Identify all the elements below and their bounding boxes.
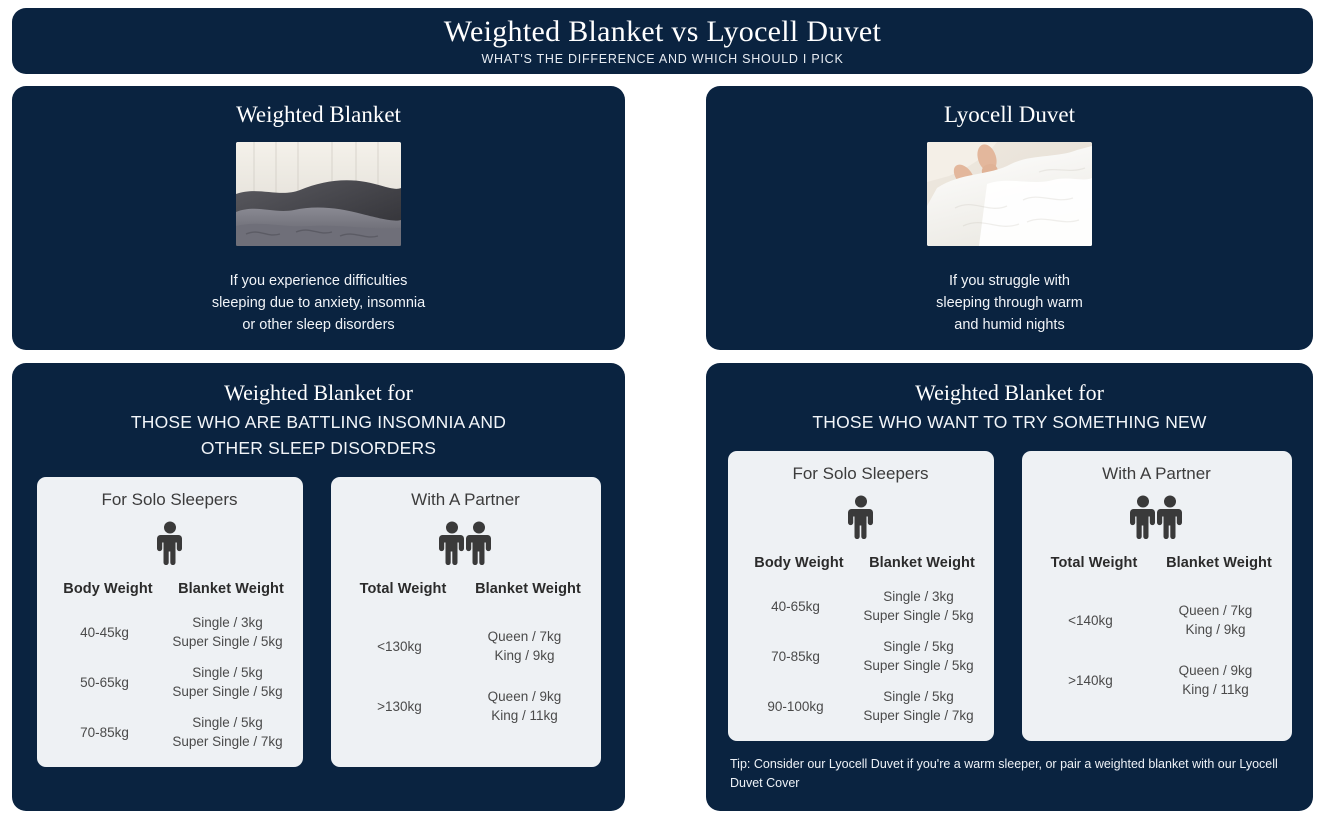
option: Super Single / 5kg bbox=[163, 632, 293, 651]
table-row: 70-85kg Single / 5kg Super Single / 5kg bbox=[738, 637, 984, 675]
cell-options: Single / 5kg Super Single / 7kg bbox=[854, 687, 984, 725]
intro-desc-line: sleeping due to anxiety, insomnia bbox=[212, 292, 425, 314]
column-header: Body Weight bbox=[47, 581, 170, 597]
page-subtitle: WHAT'S THE DIFFERENCE AND WHICH SHOULD I… bbox=[481, 52, 843, 67]
table-solo-sleepers-left: For Solo Sleepers Body Weight Blanket We… bbox=[37, 477, 303, 767]
option: Single / 5kg bbox=[854, 687, 984, 706]
intro-desc-line: If you struggle with bbox=[936, 270, 1083, 292]
table-title: For Solo Sleepers bbox=[101, 489, 237, 511]
single-person-icon bbox=[157, 519, 183, 565]
tables-left: For Solo Sleepers Body Weight Blanket We… bbox=[26, 477, 611, 767]
option: King / 9kg bbox=[1149, 620, 1281, 639]
option: Super Single / 7kg bbox=[163, 732, 293, 751]
table-with-partner-left: With A Partner Total Weight Blanket Weig… bbox=[331, 477, 601, 767]
option: King / 9kg bbox=[458, 646, 590, 665]
table-header-row: Body Weight Blanket Weight bbox=[47, 581, 293, 597]
table-title: With A Partner bbox=[1102, 463, 1211, 485]
cell-weight: <140kg bbox=[1032, 611, 1150, 630]
cell-weight: 40-65kg bbox=[738, 597, 854, 616]
table-header-row: Total Weight Blanket Weight bbox=[1032, 555, 1282, 571]
detail-card-insomnia: Weighted Blanket for THOSE WHO ARE BATTL… bbox=[12, 363, 625, 811]
option: Single / 5kg bbox=[163, 663, 293, 682]
intro-card-weighted-blanket: Weighted Blanket bbox=[12, 86, 625, 350]
option: Queen / 7kg bbox=[1149, 601, 1281, 620]
detail-sub-line: THOSE WHO ARE BATTLING INSOMNIA AND bbox=[131, 409, 506, 435]
intro-title-right: Lyocell Duvet bbox=[944, 100, 1075, 130]
tables-right: For Solo Sleepers Body Weight Blanket We… bbox=[720, 451, 1299, 741]
option: Single / 3kg bbox=[854, 587, 984, 606]
intro-card-lyocell-duvet: Lyocell Duvet bbox=[706, 86, 1313, 350]
cell-options: Single / 5kg Super Single / 5kg bbox=[854, 637, 984, 675]
table-row: 40-45kg Single / 3kg Super Single / 5kg bbox=[47, 613, 293, 651]
table-row: 40-65kg Single / 3kg Super Single / 5kg bbox=[738, 587, 984, 625]
table-row: >140kg Queen / 9kg King / 11kg bbox=[1032, 661, 1282, 699]
cell-weight: >140kg bbox=[1032, 671, 1150, 690]
intro-description-right: If you struggle with sleeping through wa… bbox=[936, 270, 1083, 336]
table-body: <130kg Queen / 7kg King / 9kg >130kg Que… bbox=[341, 601, 591, 725]
header-banner: Weighted Blanket vs Lyocell Duvet WHAT'S… bbox=[12, 8, 1313, 74]
detail-sub-line: OTHER SLEEP DISORDERS bbox=[131, 435, 506, 461]
cell-weight: 40-45kg bbox=[47, 623, 163, 642]
option: Super Single / 5kg bbox=[854, 606, 984, 625]
intro-desc-line: or other sleep disorders bbox=[212, 314, 425, 336]
column-header: Total Weight bbox=[341, 581, 466, 597]
option: King / 11kg bbox=[1149, 680, 1281, 699]
page-title: Weighted Blanket vs Lyocell Duvet bbox=[444, 15, 881, 49]
cell-options: Queen / 9kg King / 11kg bbox=[1149, 661, 1281, 699]
cell-weight: 90-100kg bbox=[738, 697, 854, 716]
cell-options: Single / 3kg Super Single / 5kg bbox=[163, 613, 293, 651]
intro-desc-line: If you experience difficulties bbox=[212, 270, 425, 292]
option: Queen / 9kg bbox=[1149, 661, 1281, 680]
table-body: 40-65kg Single / 3kg Super Single / 5kg … bbox=[738, 575, 984, 725]
cell-options: Queen / 7kg King / 9kg bbox=[458, 627, 590, 665]
table-title: With A Partner bbox=[411, 489, 520, 511]
table-row: 50-65kg Single / 5kg Super Single / 5kg bbox=[47, 663, 293, 701]
intro-title-left: Weighted Blanket bbox=[236, 100, 401, 130]
option: Super Single / 7kg bbox=[854, 706, 984, 725]
infographic-page: Weighted Blanket vs Lyocell Duvet WHAT'S… bbox=[0, 0, 1325, 820]
cell-options: Single / 3kg Super Single / 5kg bbox=[854, 587, 984, 625]
table-body: <140kg Queen / 7kg King / 9kg >140kg Que… bbox=[1032, 575, 1282, 699]
option: Super Single / 5kg bbox=[163, 682, 293, 701]
intro-desc-line: sleeping through warm bbox=[936, 292, 1083, 314]
option: Single / 5kg bbox=[854, 637, 984, 656]
intro-desc-line: and humid nights bbox=[936, 314, 1083, 336]
table-header-row: Body Weight Blanket Weight bbox=[738, 555, 984, 571]
tip-text: Tip: Consider our Lyocell Duvet if you'r… bbox=[730, 755, 1290, 793]
lyocell-duvet-photo bbox=[927, 142, 1092, 246]
table-row: <130kg Queen / 7kg King / 9kg bbox=[341, 627, 591, 665]
cell-weight: 50-65kg bbox=[47, 673, 163, 692]
detail-title-right: Weighted Blanket for bbox=[915, 379, 1104, 407]
column-header: Body Weight bbox=[738, 555, 861, 571]
cell-weight: 70-85kg bbox=[738, 647, 854, 666]
cell-options: Queen / 7kg King / 9kg bbox=[1149, 601, 1281, 639]
detail-card-something-new: Weighted Blanket for THOSE WHO WANT TO T… bbox=[706, 363, 1313, 811]
table-header-row: Total Weight Blanket Weight bbox=[341, 581, 591, 597]
option: Queen / 9kg bbox=[458, 687, 590, 706]
detail-subtitle-left: THOSE WHO ARE BATTLING INSOMNIA AND OTHE… bbox=[131, 409, 506, 461]
detail-title-left: Weighted Blanket for bbox=[224, 379, 413, 407]
weighted-blanket-photo bbox=[236, 142, 401, 246]
single-person-icon bbox=[848, 493, 874, 539]
detail-sub-line: THOSE WHO WANT TO TRY SOMETHING NEW bbox=[812, 409, 1206, 435]
column-header: Blanket Weight bbox=[861, 555, 984, 571]
column-header: Total Weight bbox=[1032, 555, 1157, 571]
table-row: 70-85kg Single / 5kg Super Single / 7kg bbox=[47, 713, 293, 751]
column-header: Blanket Weight bbox=[1157, 555, 1282, 571]
cell-weight: 70-85kg bbox=[47, 723, 163, 742]
cell-options: Single / 5kg Super Single / 7kg bbox=[163, 713, 293, 751]
table-title: For Solo Sleepers bbox=[792, 463, 928, 485]
cell-options: Queen / 9kg King / 11kg bbox=[458, 687, 590, 725]
table-row: 90-100kg Single / 5kg Super Single / 7kg bbox=[738, 687, 984, 725]
cell-weight: <130kg bbox=[341, 637, 459, 656]
option: Single / 3kg bbox=[163, 613, 293, 632]
column-header: Blanket Weight bbox=[466, 581, 591, 597]
table-row: <140kg Queen / 7kg King / 9kg bbox=[1032, 601, 1282, 639]
table-solo-sleepers-right: For Solo Sleepers Body Weight Blanket We… bbox=[728, 451, 994, 741]
option: Queen / 7kg bbox=[458, 627, 590, 646]
two-people-icon bbox=[1130, 493, 1184, 539]
table-row: >130kg Queen / 9kg King / 11kg bbox=[341, 687, 591, 725]
intro-description-left: If you experience difficulties sleeping … bbox=[212, 270, 425, 336]
cell-weight: >130kg bbox=[341, 697, 459, 716]
table-with-partner-right: With A Partner Total Weight Blanket Weig… bbox=[1022, 451, 1292, 741]
option: Super Single / 5kg bbox=[854, 656, 984, 675]
table-body: 40-45kg Single / 3kg Super Single / 5kg … bbox=[47, 601, 293, 751]
two-people-icon bbox=[439, 519, 493, 565]
column-header: Blanket Weight bbox=[170, 581, 293, 597]
cell-options: Single / 5kg Super Single / 5kg bbox=[163, 663, 293, 701]
option: King / 11kg bbox=[458, 706, 590, 725]
detail-subtitle-right: THOSE WHO WANT TO TRY SOMETHING NEW bbox=[812, 409, 1206, 435]
option: Single / 5kg bbox=[163, 713, 293, 732]
